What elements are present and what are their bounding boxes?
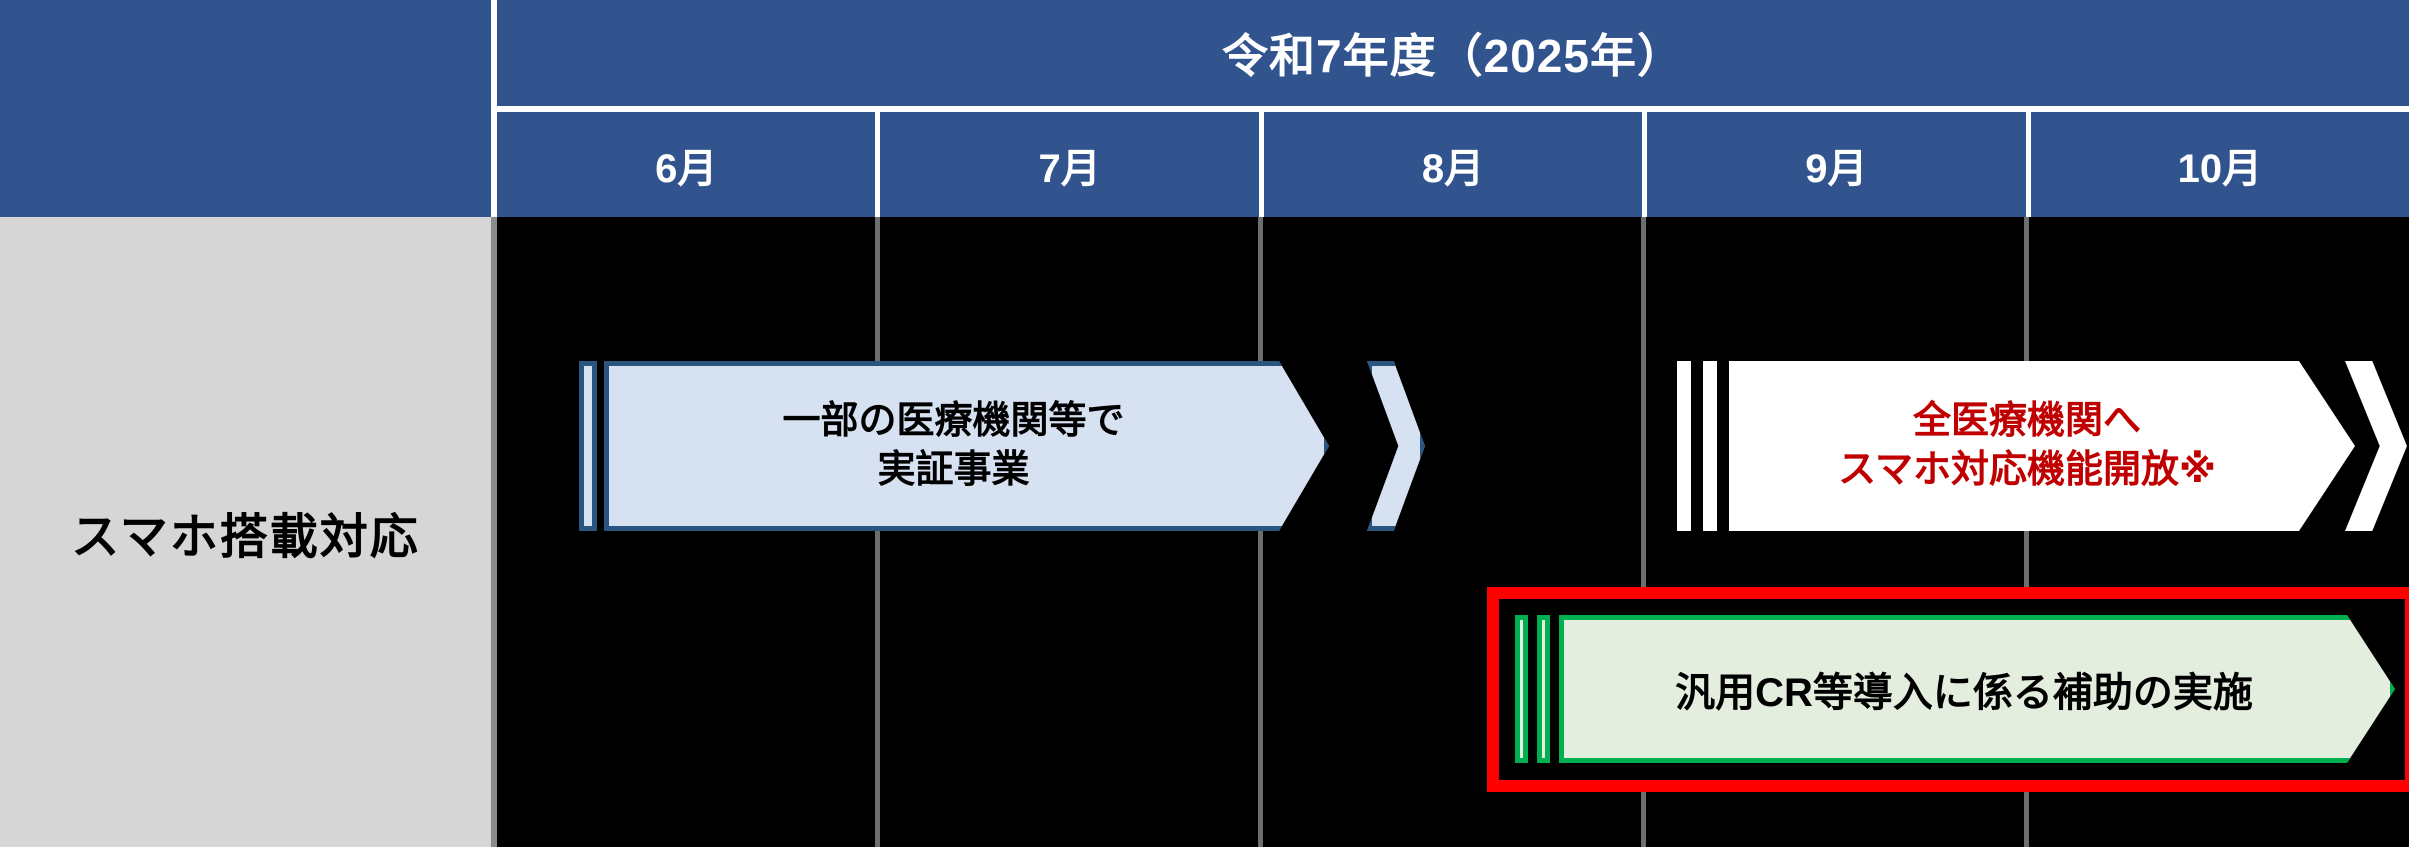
bar-subsidy-body: 汎用CR等導入に係る補助の実施 (1559, 615, 2395, 763)
bar-subsidy-start-tick-2 (1537, 615, 1550, 763)
gridline-august (1258, 217, 1263, 847)
bar-rollout-body: 全医療機関へ スマホ対応機能開放※ (1729, 361, 2355, 531)
timeline-body: 一部の医療機関等で 実証事業 全医療機関へ スマホ対応機能開放※ 汎用C (497, 217, 2409, 847)
bar-subsidy-start-tick-1 (1515, 615, 1528, 763)
header-month-cell-10: 10月 (2031, 112, 2409, 217)
bar-subsidy[interactable]: 汎用CR等導入に係る補助の実施 (1515, 615, 2395, 763)
bar-pilot-body: 一部の医療機関等で 実証事業 (604, 361, 1329, 531)
header-month-cell-8: 8月 (1264, 112, 1647, 217)
bar-rollout-line1: 全医療機関へ (1913, 400, 2141, 442)
roadmap-board: 令和7年度（2025年） 6月 7月 8月 9月 10月 スマホ搭載対応 一部の… (0, 0, 2409, 847)
bar-pilot-chevron-icon (1367, 361, 1425, 531)
bar-rollout-line2: スマホ対応機能開放※ (1838, 449, 2216, 491)
bar-rollout-start-tick-2 (1703, 361, 1717, 531)
header-month-row: 6月 7月 8月 9月 10月 (497, 112, 2409, 217)
bar-full-rollout[interactable]: 全医療機関へ スマホ対応機能開放※ (1677, 361, 2355, 531)
header-month-cell-9: 9月 (1647, 112, 2030, 217)
bar-pilot-project[interactable]: 一部の医療機関等で 実証事業 (579, 361, 1329, 531)
gridline-july (875, 217, 880, 847)
header-month-cell-6: 6月 (497, 112, 880, 217)
bar-pilot-line1: 一部の医療機関等で (782, 400, 1124, 442)
bar-pilot-start-tick (579, 361, 597, 531)
header-year-label: 令和7年度（2025年） (497, 0, 2409, 112)
header-month-cell-7: 7月 (880, 112, 1263, 217)
bar-rollout-start-tick-1 (1677, 361, 1691, 531)
bar-pilot-line2: 実証事業 (877, 449, 1029, 491)
header-corner-cell (0, 0, 497, 217)
row-label-smartphone: スマホ搭載対応 (0, 217, 497, 847)
